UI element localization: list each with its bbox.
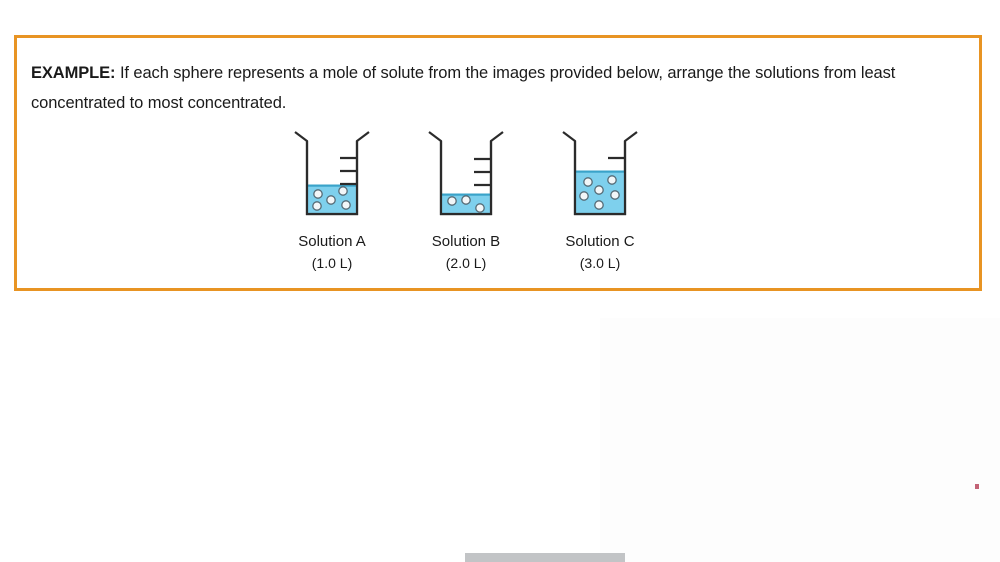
beaker-illustration-a: [285, 128, 379, 226]
beaker-label-a: Solution A: [298, 232, 366, 252]
presenter-video: CLUTCH: [600, 318, 1000, 562]
example-panel: EXAMPLE: If each sphere represents a mol…: [14, 35, 982, 291]
solute-sphere: [580, 192, 588, 200]
example-lead-label: EXAMPLE:: [31, 64, 115, 82]
red-pixel-artifact: [975, 484, 979, 489]
solute-sphere: [608, 176, 616, 184]
beaker-illustration-b: [419, 128, 513, 226]
beaker-liquid-surface-c: [576, 171, 624, 173]
beaker-label-b: Solution B: [432, 232, 500, 252]
solute-sphere: [584, 178, 592, 186]
beaker-svg-a: [285, 128, 379, 226]
beaker-volume-b: (2.0 L): [446, 253, 486, 273]
beaker-illustration-c: [553, 128, 647, 226]
solute-sphere: [476, 204, 484, 212]
beaker-volume-c: (3.0 L): [580, 253, 620, 273]
solute-sphere: [342, 201, 350, 209]
presenter-background: [600, 318, 1000, 562]
beaker-group-solution-b: Solution B (2.0 L): [419, 128, 513, 273]
solute-sphere: [595, 201, 603, 209]
solute-sphere: [313, 202, 321, 210]
solute-sphere: [339, 187, 347, 195]
bottom-toolbar-strip: [465, 553, 625, 562]
prompt-body: If each sphere represents a mole of solu…: [31, 64, 895, 112]
beaker-group-solution-c: Solution C (3.0 L): [553, 128, 647, 273]
solute-sphere: [448, 197, 456, 205]
solute-sphere: [611, 191, 619, 199]
beaker-row: Solution A (1.0 L): [285, 128, 705, 273]
solute-sphere: [327, 196, 335, 204]
solute-sphere: [314, 190, 322, 198]
beaker-group-solution-a: Solution A (1.0 L): [285, 128, 379, 273]
solute-sphere: [595, 186, 603, 194]
beaker-label-c: Solution C: [565, 232, 634, 252]
solute-sphere: [462, 196, 470, 204]
beaker-volume-a: (1.0 L): [312, 253, 352, 273]
beaker-svg-c: [553, 128, 647, 226]
beaker-svg-b: [419, 128, 513, 226]
prompt-text: EXAMPLE: If each sphere represents a mol…: [31, 58, 961, 118]
